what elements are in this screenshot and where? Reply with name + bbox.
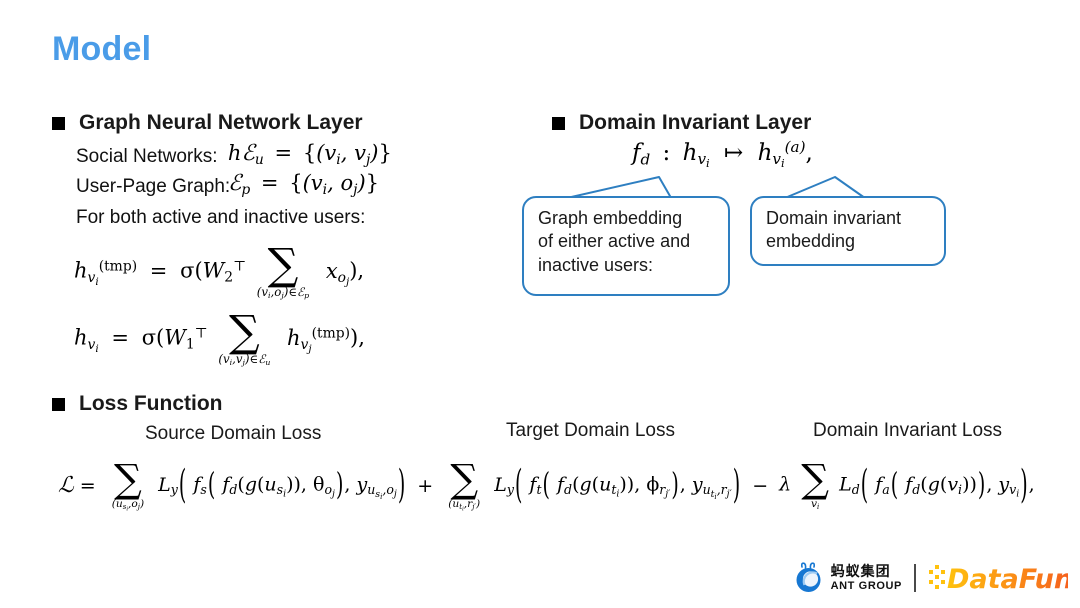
- section-heading-label: Domain Invariant Layer: [579, 111, 811, 135]
- datafun-logo-icon: DataFun.: [928, 561, 1068, 595]
- loss-term-source: ∑ (usi,oj) Ly( fs( fd(g(usi)), θoj), yus…: [108, 462, 407, 509]
- equation-h-tmp: hvi(tmp) = σ(W2⊤ ∑ (vi,oj)∈ℰp xoj),: [74, 246, 364, 298]
- summation-operator: ∑ (uti,rj′): [448, 462, 480, 509]
- callout-line: of either active and: [538, 230, 715, 253]
- slide-canvas: Model Graph Neural Network Layer Social …: [0, 0, 1080, 608]
- summation-operator: ∑ (vi,vj)∈ℰu: [218, 313, 270, 365]
- section-heading-domain-invariant: Domain Invariant Layer: [552, 111, 811, 135]
- bullet-square-icon: [52, 117, 65, 130]
- callout-line: inactive users:: [538, 254, 715, 277]
- callout-tails: [0, 0, 1080, 608]
- summation-operator: ∑ vi: [801, 462, 829, 509]
- active-inactive-note: For both active and inactive users:: [76, 207, 365, 229]
- ant-group-logo: 蚂蚁集团 ANT GROUP: [794, 562, 902, 594]
- ant-group-chinese-name: 蚂蚁集团: [831, 565, 902, 579]
- logo-divider: [914, 564, 916, 592]
- equation-domain-invariant-map: fd : hvi ↦ hvi(a),: [632, 140, 813, 166]
- social-networks-label: Social Networks:: [76, 146, 228, 168]
- bullet-square-icon: [52, 398, 65, 411]
- summation-operator: ∑ (vi,oj)∈ℰp: [257, 246, 309, 298]
- page-title: Model: [52, 30, 151, 69]
- loss-label-source-domain: Source Domain Loss: [145, 423, 321, 445]
- social-networks-label-row: Social Networks:: [76, 146, 228, 168]
- loss-label-domain-invariant: Domain Invariant Loss: [813, 420, 1002, 442]
- callout-domain-invariant-embedding: Domain invariant embedding: [750, 196, 946, 266]
- loss-label-target-domain: Target Domain Loss: [506, 420, 675, 442]
- loss-term-target: ∑ (uti,rj′) Ly( ft( fd(g(uti)), ϕrj′), y…: [444, 462, 741, 509]
- equation-total-loss: ℒ= ∑ (usi,oj) Ly( fs( fd(g(usi)), θoj), …: [58, 462, 1035, 509]
- callout-graph-embedding: Graph embedding of either active and ina…: [522, 196, 730, 296]
- user-page-graph-label-row: User-Page Graph:: [76, 176, 228, 198]
- section-heading-label: Loss Function: [79, 392, 223, 416]
- ant-logo-icon: [794, 562, 824, 594]
- user-page-graph-formula: ℰp = {(vi, oj)}: [228, 171, 379, 196]
- summation-operator: ∑ (usi,oj): [112, 462, 144, 509]
- section-heading-label: Graph Neural Network Layer: [79, 111, 363, 135]
- callout-line: Graph embedding: [538, 207, 715, 230]
- callout-line: embedding: [766, 230, 931, 253]
- datafun-logo: DataFun.: [928, 561, 1068, 595]
- loss-term-domain-invariant: λ ∑ vi Ld( fa( fd(g(vi))), yvi),: [779, 462, 1035, 509]
- section-heading-gnn: Graph Neural Network Layer: [52, 111, 363, 135]
- loss-minus-operator: −: [752, 475, 768, 497]
- bullet-square-icon: [552, 117, 565, 130]
- ant-group-text: 蚂蚁集团 ANT GROUP: [831, 565, 902, 592]
- footer-logos: 蚂蚁集团 ANT GROUP: [794, 556, 1068, 600]
- user-page-graph-label: User-Page Graph:: [76, 176, 228, 198]
- loss-plus-operator: +: [417, 475, 433, 497]
- ant-group-english-name: ANT GROUP: [831, 581, 902, 592]
- social-networks-formula: ℎℰu = {(vi, vj)}: [228, 141, 392, 166]
- loss-lhs: ℒ=: [58, 473, 102, 498]
- section-heading-loss: Loss Function: [52, 392, 223, 416]
- callout-line: Domain invariant: [766, 207, 931, 230]
- equation-h-v: hvi = σ(W1⊤ ∑ (vi,vj)∈ℰu hvj(tmp)),: [74, 313, 365, 365]
- svg-text:DataFun.: DataFun.: [947, 564, 1068, 595]
